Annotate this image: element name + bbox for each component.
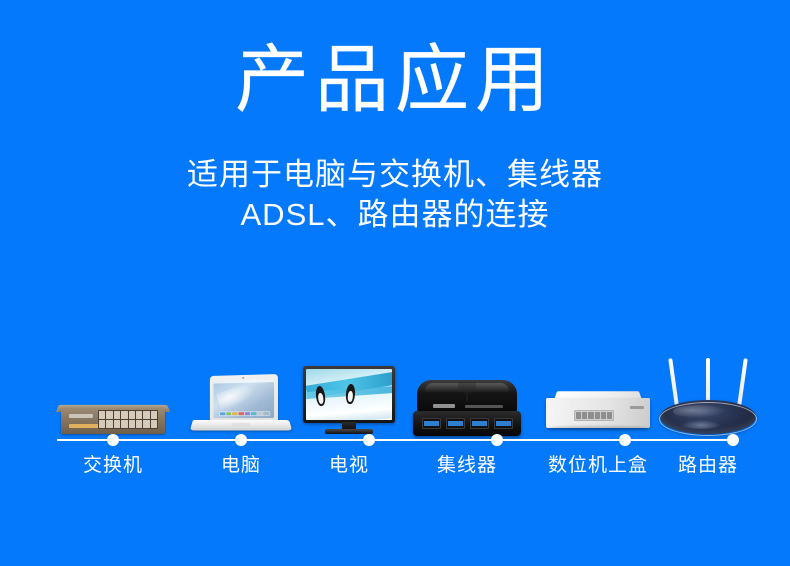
device-label-router: 路由器 — [678, 452, 738, 480]
set-top-box-shadow — [548, 426, 648, 430]
device-label-set-top-box: 数位机上盒 — [548, 452, 648, 480]
usb-hub-icon — [413, 380, 521, 436]
device-illustration-strip — [0, 318, 790, 436]
set-top-box-icon — [546, 386, 650, 436]
set-top-box-chassis — [546, 398, 650, 428]
device-label-switch: 交换机 — [83, 452, 143, 480]
tv-screen — [306, 369, 392, 420]
timeline-dot-usb-hub — [491, 434, 503, 446]
device-label-row: 交换机 电脑 电视 集线器 数位机上盒 路由器 — [0, 452, 790, 484]
page-title: 产品应用 — [0, 38, 790, 122]
timeline-line — [57, 439, 733, 441]
device-slot-laptop — [193, 318, 289, 436]
switch-brand-mark — [69, 414, 93, 418]
device-slot-television — [303, 318, 395, 436]
usb-port-3 — [470, 418, 489, 429]
switch-port-array — [98, 410, 158, 429]
timeline-dot-router — [727, 434, 739, 446]
page-subtitle: 适用于电脑与交换机、集线器 ADSL、路由器的连接 — [0, 155, 790, 235]
device-slot-switch — [57, 318, 169, 436]
laptop-lid — [210, 374, 278, 422]
timeline-rail — [57, 434, 733, 446]
laptop-wallpaper-glow — [216, 381, 260, 413]
device-slot-usb-hub — [413, 318, 521, 436]
subtitle-line-2: ADSL、路由器的连接 — [0, 195, 790, 235]
usb-hub-model-text — [465, 405, 503, 408]
timeline-dot-laptop — [235, 434, 247, 446]
device-slot-set-top-box — [546, 318, 650, 436]
tv-bezel — [303, 366, 395, 423]
laptop-webcam — [242, 376, 244, 378]
laptop-icon — [193, 370, 289, 436]
usb-port-1 — [422, 418, 441, 429]
timeline-dot-set-top-box — [619, 434, 631, 446]
set-top-box-port-array — [574, 410, 614, 421]
device-label-laptop: 电脑 — [221, 452, 261, 480]
timeline-dot-television — [363, 434, 375, 446]
usb-hub-top-shell — [417, 380, 517, 413]
usb-port-2 — [446, 418, 465, 429]
wireless-router-icon — [660, 348, 756, 436]
network-switch-icon — [56, 402, 170, 436]
timeline-dot-switch — [107, 434, 119, 446]
subtitle-line-1: 适用于电脑与交换机、集线器 — [187, 157, 603, 192]
product-application-banner: 产品应用 适用于电脑与交换机、集线器 ADSL、路由器的连接 — [0, 0, 790, 566]
device-slot-router — [660, 318, 756, 436]
laptop-display — [213, 379, 274, 418]
set-top-box-front-panel — [546, 398, 650, 428]
television-icon — [303, 366, 395, 436]
usb-hub-gloss — [425, 383, 509, 393]
laptop-dock — [219, 411, 269, 416]
laptop-keyboard-base — [190, 420, 292, 431]
usb-port-4 — [494, 418, 513, 429]
usb-hub-port-bank — [413, 411, 521, 436]
laptop-trackpad — [232, 423, 251, 426]
device-label-television: 电视 — [329, 452, 369, 480]
switch-chassis — [61, 408, 165, 434]
device-label-usb-hub: 集线器 — [437, 452, 497, 480]
set-top-box-label — [630, 406, 644, 409]
router-rim — [659, 402, 757, 436]
usb-hub-brand-mark — [433, 404, 455, 408]
